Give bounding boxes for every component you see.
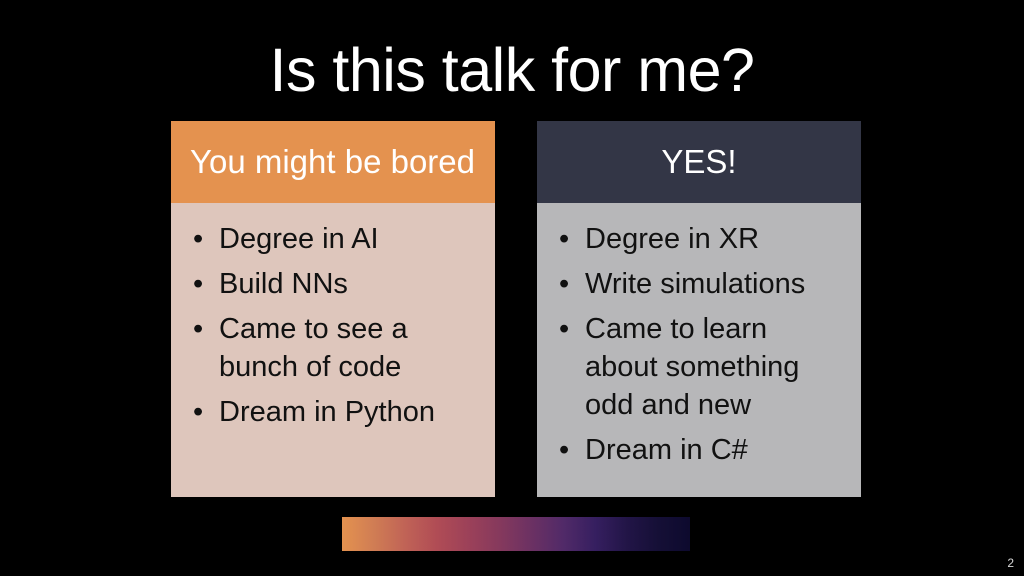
- list-item-label: Dream in C#: [585, 434, 748, 466]
- bullet-dot-icon: •: [559, 265, 569, 303]
- bullet-dot-icon: •: [559, 220, 569, 258]
- comparison-column-left: You might be bored • Degree in AI • Buil…: [171, 121, 495, 497]
- page-title: Is this talk for me?: [0, 38, 1024, 102]
- list-item: • Dream in Python: [185, 393, 481, 431]
- column-header-yes: YES!: [537, 121, 861, 203]
- list-item-label: Degree in AI: [219, 223, 379, 255]
- list-item-label: Write simulations: [585, 268, 805, 300]
- list-item-label: Degree in XR: [585, 223, 759, 255]
- column-header-label: YES!: [661, 143, 736, 181]
- list-item-label: Came to learn about something odd and ne…: [585, 313, 799, 421]
- column-header-label: You might be bored: [190, 143, 475, 181]
- list-item-label: Dream in Python: [219, 396, 435, 428]
- bullet-list-left: • Degree in AI • Build NNs • Came to see…: [185, 220, 481, 431]
- bullet-dot-icon: •: [559, 431, 569, 469]
- magma-colorbar: [342, 517, 690, 551]
- comparison-column-right: YES! • Degree in XR • Write simulations …: [537, 121, 861, 497]
- list-item-label: Build NNs: [219, 268, 348, 300]
- bullet-dot-icon: •: [559, 310, 569, 348]
- list-item: • Write simulations: [551, 265, 847, 303]
- list-item: • Came to learn about something odd and …: [551, 310, 847, 424]
- bullet-list-right: • Degree in XR • Write simulations • Cam…: [551, 220, 847, 469]
- column-body-might-be-bored: • Degree in AI • Build NNs • Came to see…: [171, 203, 495, 497]
- slide-canvas: Is this talk for me? You might be bored …: [0, 0, 1024, 576]
- bullet-dot-icon: •: [193, 393, 203, 431]
- bullet-dot-icon: •: [193, 310, 203, 348]
- column-header-might-be-bored: You might be bored: [171, 121, 495, 203]
- bullet-dot-icon: •: [193, 220, 203, 258]
- list-item: • Came to see a bunch of code: [185, 310, 481, 386]
- list-item: • Build NNs: [185, 265, 481, 303]
- page-number: 2: [1007, 556, 1014, 570]
- list-item: • Dream in C#: [551, 431, 847, 469]
- bullet-dot-icon: •: [193, 265, 203, 303]
- list-item: • Degree in XR: [551, 220, 847, 258]
- list-item-label: Came to see a bunch of code: [219, 313, 408, 383]
- column-body-yes: • Degree in XR • Write simulations • Cam…: [537, 203, 861, 497]
- list-item: • Degree in AI: [185, 220, 481, 258]
